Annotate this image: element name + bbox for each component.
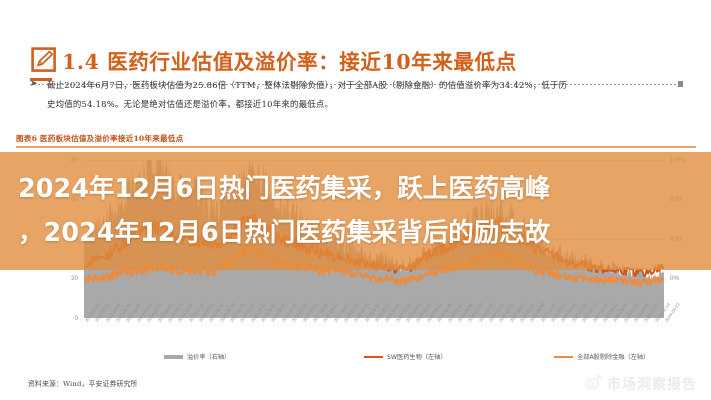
legend-label: 溢价率（右轴） — [187, 352, 230, 361]
legend-item: 全部A股剔除金融（左轴） — [554, 352, 649, 361]
overlay-headline: 2024年12月6日热门医药集采，跃上医药高峰 ，2024年12月6日热门医药集… — [0, 155, 711, 267]
page-title: 1.4 医药行业估值及溢价率：接近10年来最低点 — [62, 45, 517, 75]
chart-x-axis-ticks: 2013-01-042013-03-212013-06-052013-08-26… — [84, 320, 670, 345]
legend-item: 溢价率（右轴） — [164, 352, 230, 361]
legend-label: 全部A股剔除金融（左轴） — [577, 352, 649, 361]
y-axis-left-tick: 20 — [56, 275, 78, 282]
y-axis-right-tick: 0% — [670, 275, 696, 282]
slide-header: 1.4 医药行业估值及溢价率：接近10年来最低点 — [0, 20, 711, 66]
edit-pencil-icon — [31, 47, 57, 73]
figure-caption: 图表6 医药板块估值及溢价率接近10年来最低点 — [16, 133, 183, 144]
bullet-text-line-1: 截止2024年6月7日，医药板块估值为25.86倍（TTM，整体法剔除负值），对… — [47, 76, 690, 95]
legend-item: SW医药生物（左轴） — [364, 352, 447, 361]
y-axis-left-tick: 0 — [56, 315, 78, 322]
legend-swatch — [164, 355, 183, 359]
bullet-text-line-2: 史均值的54.18%。无论是绝对估值还是溢价率，都接近10年来的最低点。 — [47, 95, 690, 114]
weibo-icon — [585, 374, 602, 394]
chart-legend: 溢价率（右轴）SW医药生物（左轴）全部A股剔除金融（左轴） — [16, 352, 696, 364]
overlay-headline-line-1: 2024年12月6日热门医药集采，跃上医药高峰 — [18, 167, 693, 211]
legend-swatch — [364, 356, 383, 358]
watermark-label: 市场洞察报告 — [607, 374, 697, 394]
bullet-row: ➤ 截止2024年6月7日，医药板块估值为25.86倍（TTM，整体法剔除负值）… — [30, 76, 690, 114]
bullet-marker-icon: ➤ — [30, 77, 38, 89]
body-bullet-block: ➤ 截止2024年6月7日，医药板块估值为25.86倍（TTM，整体法剔除负值）… — [30, 76, 690, 114]
figure-source: 资料来源：Wind，平安证券研究所 — [28, 378, 138, 388]
figure-caption-rule — [16, 146, 696, 148]
legend-swatch — [554, 356, 573, 358]
watermark: 市场洞察报告 — [585, 374, 697, 394]
legend-label: SW医药生物（左轴） — [387, 352, 447, 361]
overlay-headline-line-2: ，2024年12月6日热门医药集采背后的励志故 — [18, 211, 693, 255]
slide-page: 1.4 医药行业估值及溢价率：接近10年来最低点 ➤ 截止2024年6月7日，医… — [0, 0, 711, 400]
